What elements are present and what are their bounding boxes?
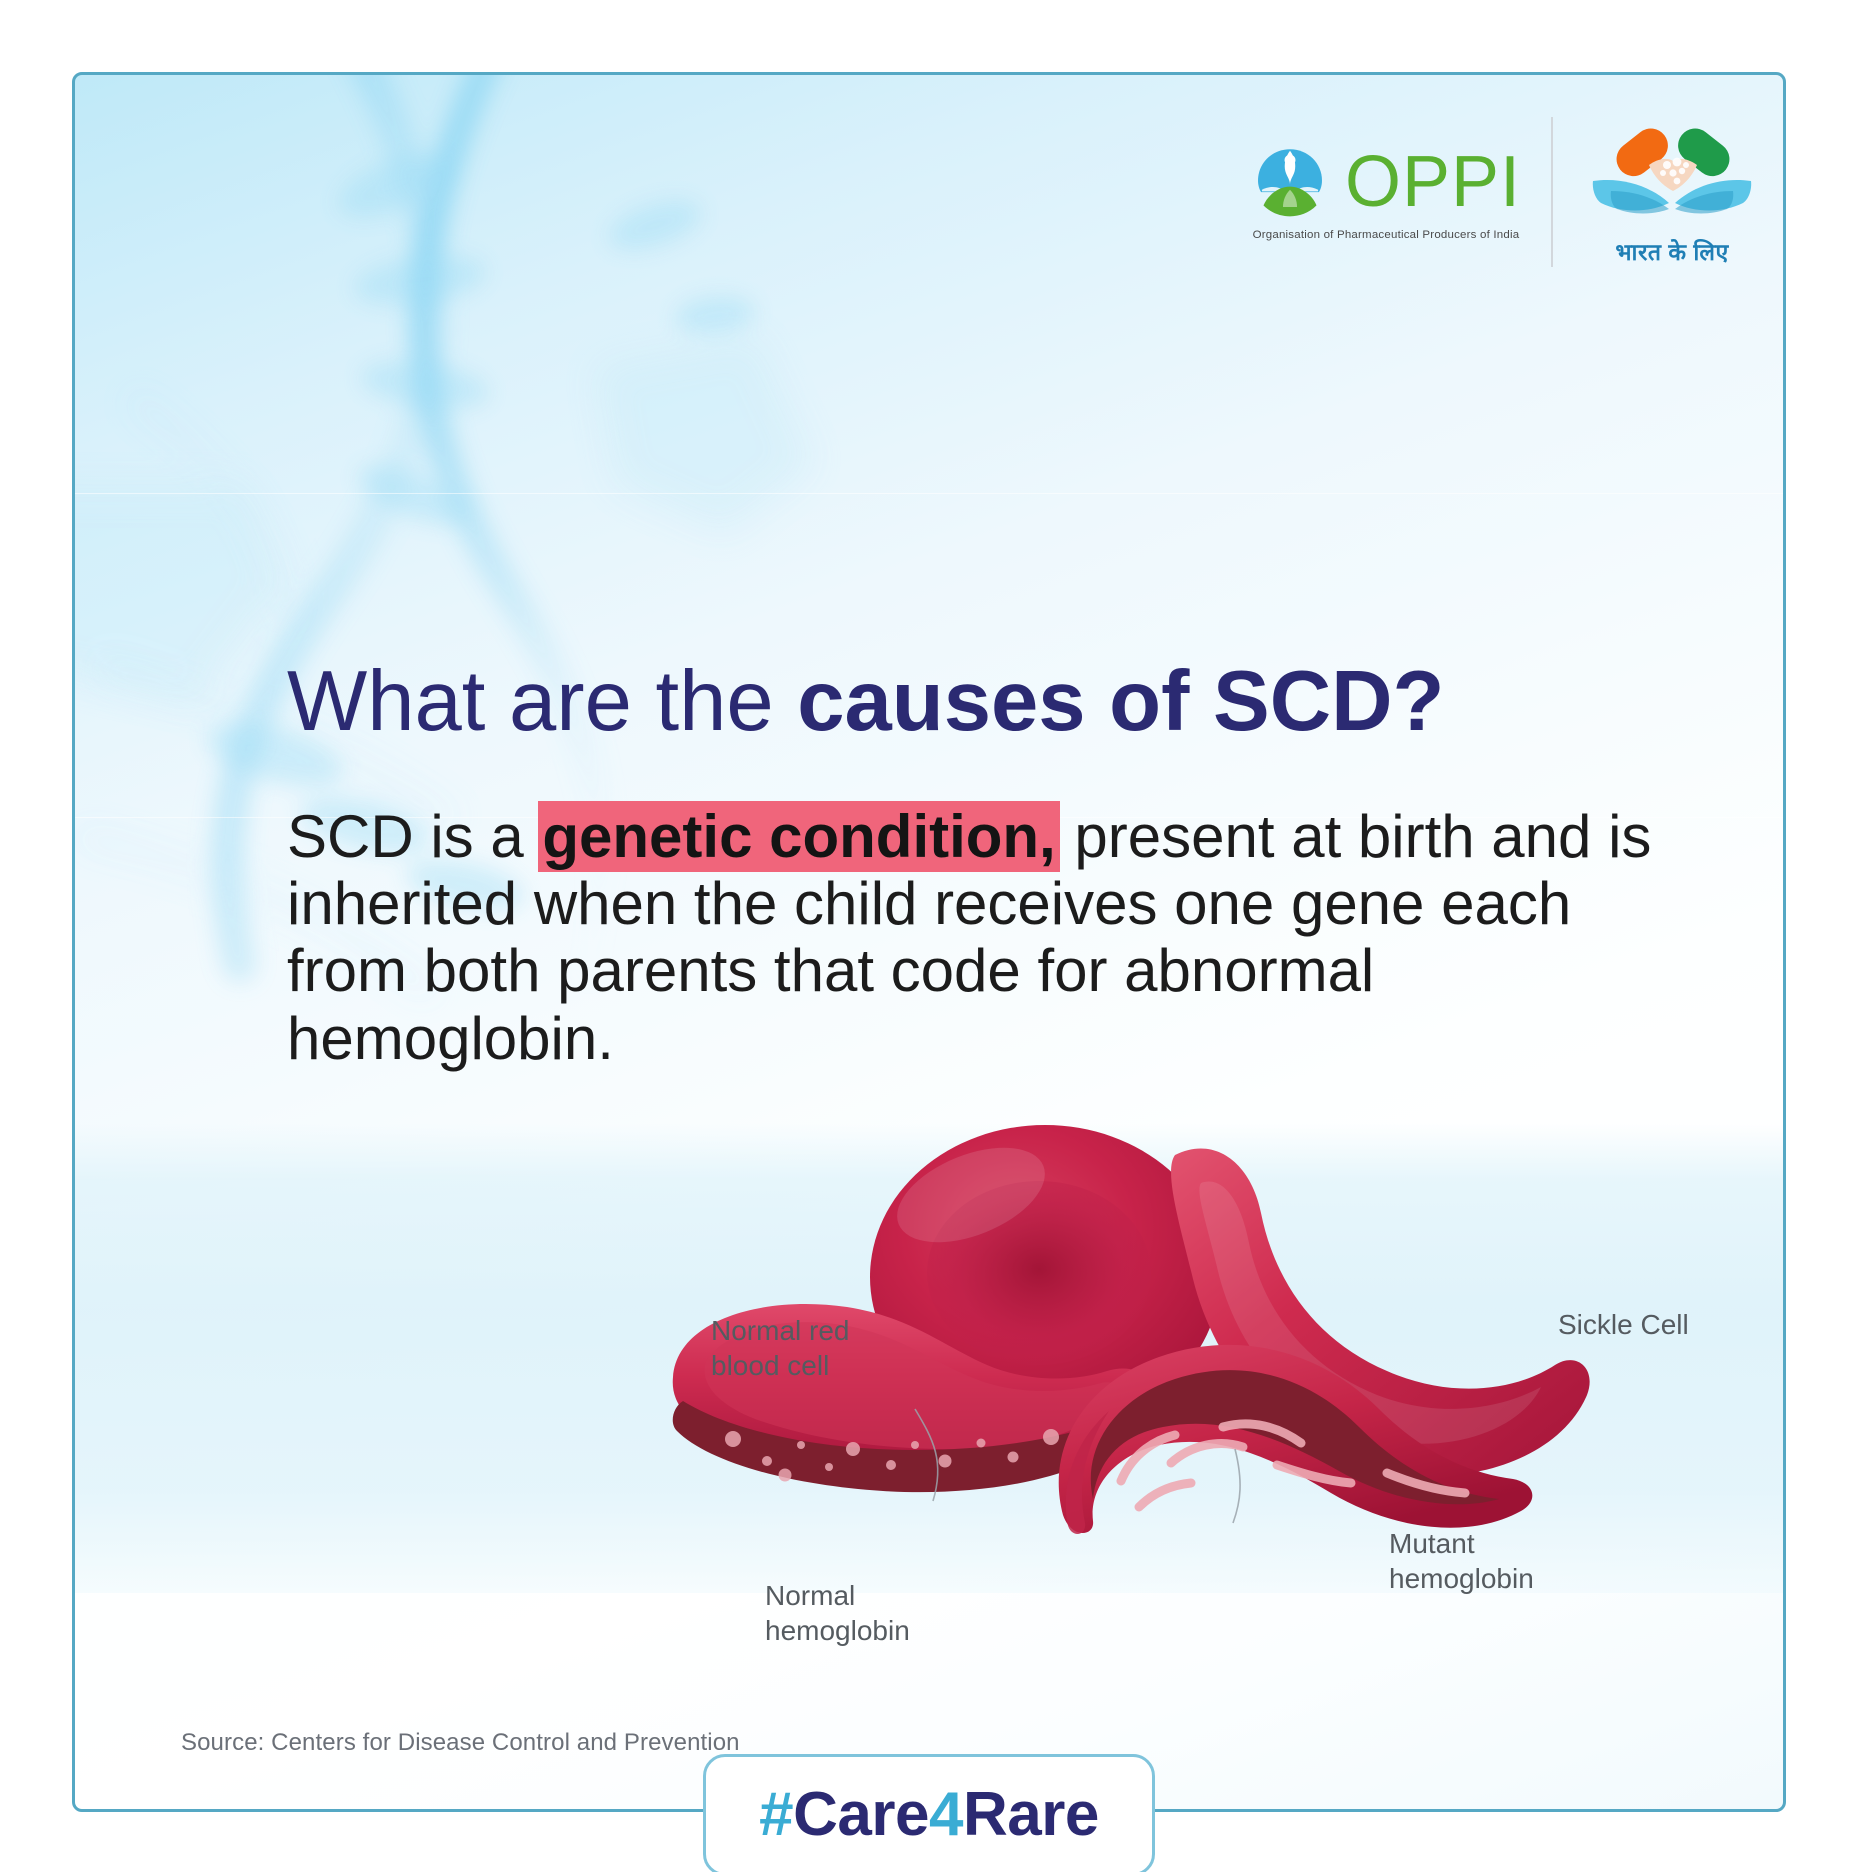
headline-bold: causes of SCD? (797, 654, 1444, 749)
leader-line-mutant-hemoglobin (1233, 1449, 1240, 1523)
hashtag-rare: Rare (963, 1780, 1099, 1849)
oppi-logo: OPPI Organisation of Pharmaceutical Prod… (1251, 143, 1551, 241)
hashtag-text: #Care4Rare (759, 1784, 1099, 1846)
label-normal-hemoglobin: Normal hemoglobin (765, 1579, 910, 1648)
label-normal-red-blood-cell: Normal red blood cell (711, 1314, 849, 1383)
background-band (75, 493, 1783, 494)
bharat-ke-liye-hands-heart-icon (1587, 121, 1757, 239)
blood-cell-illustration-panel (75, 1123, 1783, 1593)
body-text: SCD is a genetic condition, present at b… (287, 803, 1707, 1072)
oppi-globe-icon (1251, 143, 1329, 221)
source-citation: Source: Centers for Disease Control and … (181, 1729, 740, 1757)
oppi-tagline: Organisation of Pharmaceutical Producers… (1253, 229, 1520, 240)
label-mutant-hemoglobin: Mutant hemoglobin (1389, 1527, 1534, 1596)
highlighted-phrase: genetic condition, (540, 803, 1057, 870)
logo-row: OPPI Organisation of Pharmaceutical Prod… (1251, 97, 1757, 287)
bharat-ke-liye-text: भारत के लिए (1615, 241, 1728, 264)
headline-light: What are the (287, 654, 797, 749)
hashtag-badge: #Care4Rare (703, 1754, 1155, 1872)
hashtag-care: Care (793, 1780, 929, 1849)
info-card: OPPI Organisation of Pharmaceutical Prod… (72, 72, 1786, 1812)
hashtag-symbol: # (759, 1780, 793, 1849)
body-part-1: SCD is a (287, 803, 540, 870)
bharat-ke-liye-logo: भारत के लिए (1553, 121, 1757, 264)
hashtag-four: 4 (929, 1780, 963, 1849)
page-title: What are the causes of SCD? (287, 657, 1444, 746)
label-sickle-cell: Sickle Cell (1558, 1308, 1689, 1343)
poster-canvas: OPPI Organisation of Pharmaceutical Prod… (0, 0, 1858, 1872)
oppi-wordmark: OPPI (1345, 146, 1521, 218)
